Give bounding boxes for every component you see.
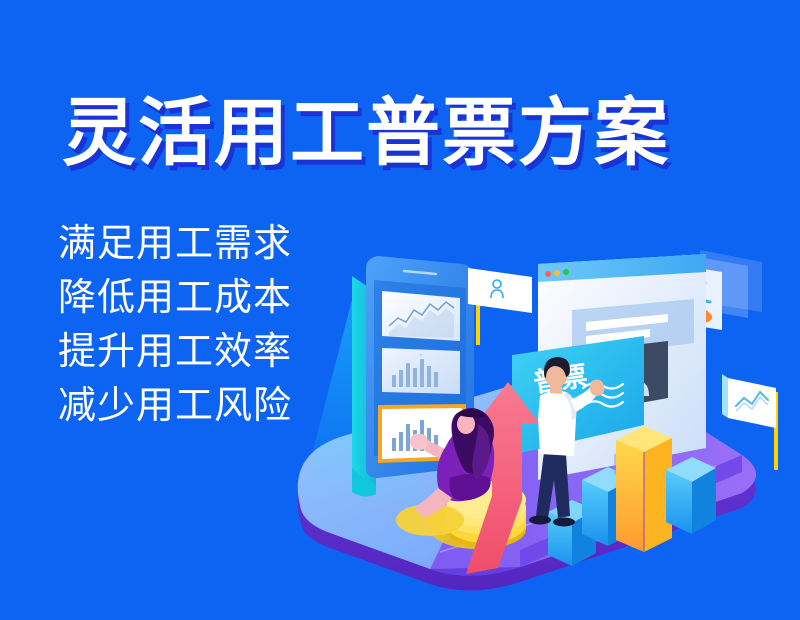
list-item: 提升用工效率 xyxy=(58,326,292,380)
person-man xyxy=(529,357,604,527)
bar-1 xyxy=(548,500,596,566)
stamp-icon xyxy=(690,309,710,323)
person-woman xyxy=(410,408,494,518)
invoice-card-label: 普票 xyxy=(532,360,590,398)
phone-line-chart-panel xyxy=(382,291,460,341)
minimize-dot-icon xyxy=(554,270,560,276)
page-title: 灵活用工普票方案 xyxy=(62,96,670,170)
promo-banner: 普票 xyxy=(0,0,800,620)
smartphone xyxy=(352,256,474,497)
user-card-pole xyxy=(478,300,490,345)
feature-list: 满足用工需求 降低用工成本 提升用工效率 减少用工风险 xyxy=(58,218,292,434)
wave-lines-icon xyxy=(583,383,623,406)
user-card-marker xyxy=(468,268,532,345)
isometric-platform xyxy=(298,376,756,590)
bar-4 xyxy=(666,457,716,534)
document-stack xyxy=(648,250,762,357)
line-chart-card-marker xyxy=(722,374,776,470)
close-dot-icon xyxy=(545,271,551,277)
bar-chart-3d xyxy=(548,426,716,566)
bar-2 xyxy=(582,467,634,546)
invoice-card xyxy=(512,336,644,455)
wave-line-icon xyxy=(736,392,768,406)
coin-stack xyxy=(396,481,526,549)
phone-bar-chart-panel xyxy=(382,348,460,394)
growth-arrow xyxy=(466,382,540,574)
phone-highlight-panel xyxy=(378,404,466,463)
list-item: 减少用工风险 xyxy=(58,380,292,434)
user-icon xyxy=(491,280,503,298)
bar-3-highlight xyxy=(616,426,672,552)
phone-glow xyxy=(300,300,420,500)
maximize-dot-icon xyxy=(563,269,569,275)
avatar xyxy=(608,341,668,409)
list-item: 降低用工成本 xyxy=(58,272,292,326)
browser-window: 普票 xyxy=(512,254,706,480)
list-item: 满足用工需求 xyxy=(58,218,292,272)
